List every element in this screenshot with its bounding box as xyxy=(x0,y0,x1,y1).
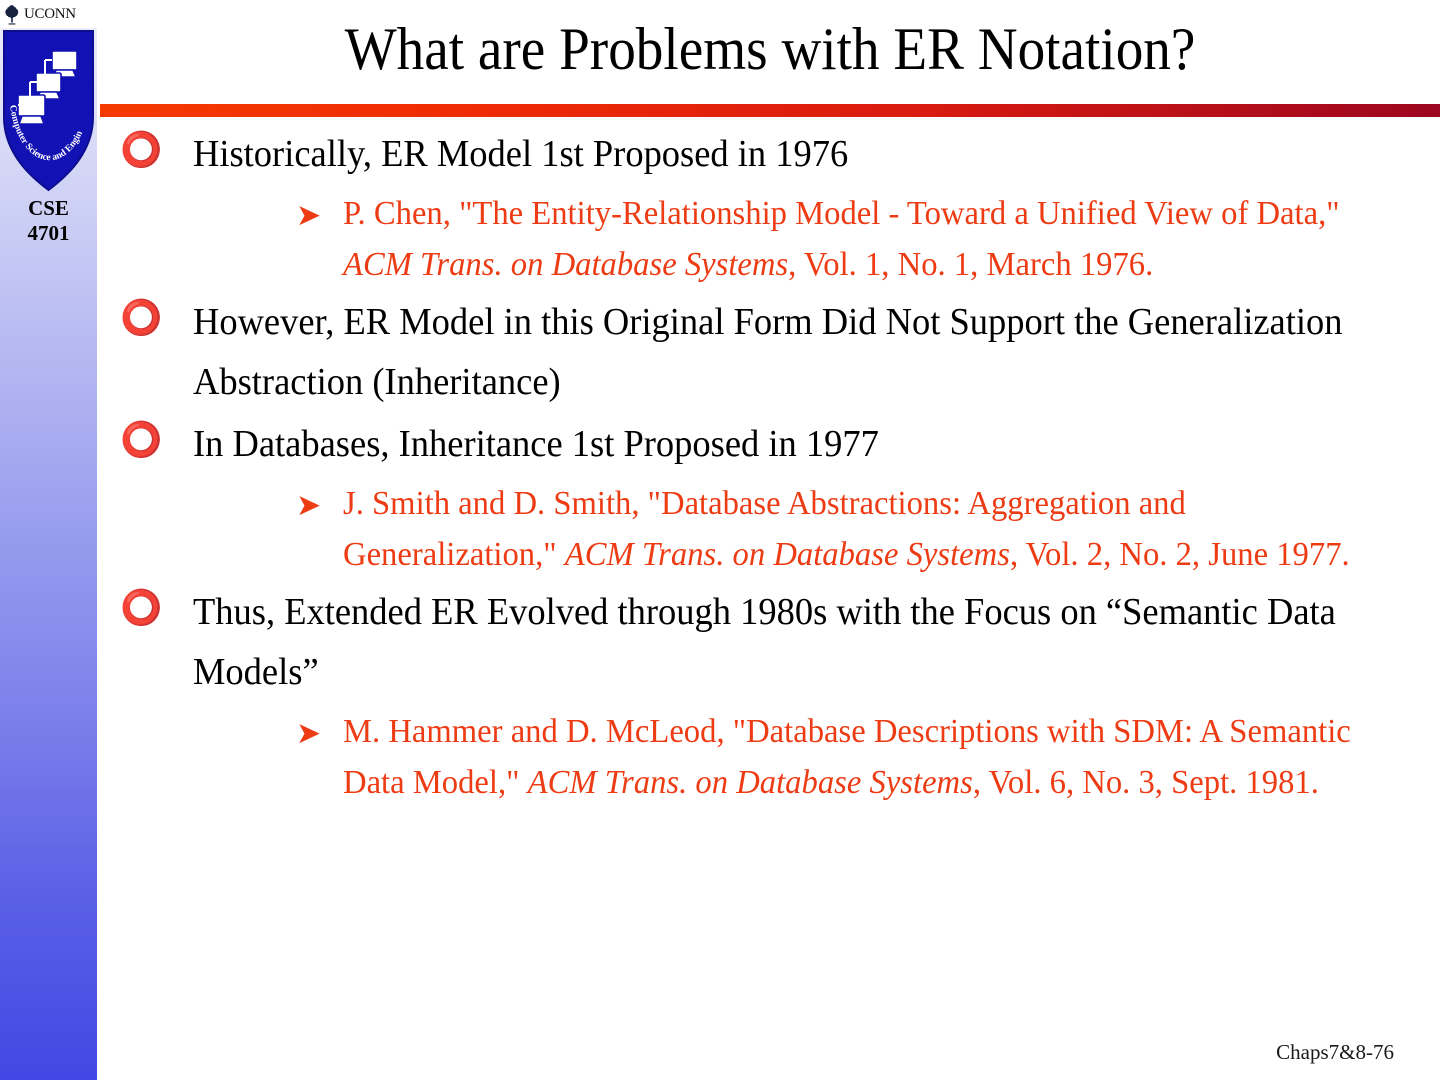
citation-text: J. Smith and D. Smith, "Database Abstrac… xyxy=(343,478,1396,580)
course-code: CSE 4701 xyxy=(0,196,97,246)
sidebar: UCONN xyxy=(0,0,97,1080)
bullet-text: Thus, Extended ER Evolved through 1980s … xyxy=(193,582,1390,702)
chevron-right-icon: ➤ xyxy=(296,714,336,754)
bullet-circle-icon: ⭕ xyxy=(120,128,156,172)
chevron-right-icon: ➤ xyxy=(296,196,336,236)
cse-shield-icon: Computer Science and Engineering xyxy=(0,29,97,192)
bullet-text: Historically, ER Model 1st Proposed in 1… xyxy=(193,124,1390,184)
bullet-circle-icon: ⭕ xyxy=(120,418,156,462)
bullet-text: In Databases, Inheritance 1st Proposed i… xyxy=(193,414,1390,474)
citation-item: ➤ M. Hammer and D. McLeod, "Database Des… xyxy=(100,706,1440,808)
citation-text: P. Chen, "The Entity-Relationship Model … xyxy=(343,188,1396,290)
slide-body: ⭕ Historically, ER Model 1st Proposed in… xyxy=(100,124,1440,1024)
bullet-circle-icon: ⭕ xyxy=(120,296,156,340)
citation-text: M. Hammer and D. McLeod, "Database Descr… xyxy=(343,706,1396,808)
bullet-circle-icon: ⭕ xyxy=(120,586,156,630)
uconn-oak-tree-icon xyxy=(2,3,22,25)
bullet-item: ⭕ In Databases, Inheritance 1st Proposed… xyxy=(100,414,1440,474)
uconn-brand-band: UCONN xyxy=(0,0,97,28)
course-code-line2: 4701 xyxy=(0,221,97,246)
uconn-wordmark: UCONN xyxy=(24,7,76,22)
bullet-text: However, ER Model in this Original Form … xyxy=(193,292,1390,412)
citation-item: ➤ P. Chen, "The Entity-Relationship Mode… xyxy=(100,188,1440,290)
bullet-item: ⭕ However, ER Model in this Original For… xyxy=(100,292,1440,412)
bullet-item: ⭕ Thus, Extended ER Evolved through 1980… xyxy=(100,582,1440,702)
slide-footer: Chaps7&8-76 xyxy=(1276,1040,1394,1064)
chevron-right-icon: ➤ xyxy=(296,486,336,526)
course-code-line1: CSE xyxy=(0,196,97,221)
slide-title: What are Problems with ER Notation? xyxy=(154,12,1387,86)
citation-item: ➤ J. Smith and D. Smith, "Database Abstr… xyxy=(100,478,1440,580)
cse-shield-logo: Computer Science and Engineering xyxy=(0,29,97,192)
title-divider-bar xyxy=(100,104,1440,117)
bullet-item: ⭕ Historically, ER Model 1st Proposed in… xyxy=(100,124,1440,184)
